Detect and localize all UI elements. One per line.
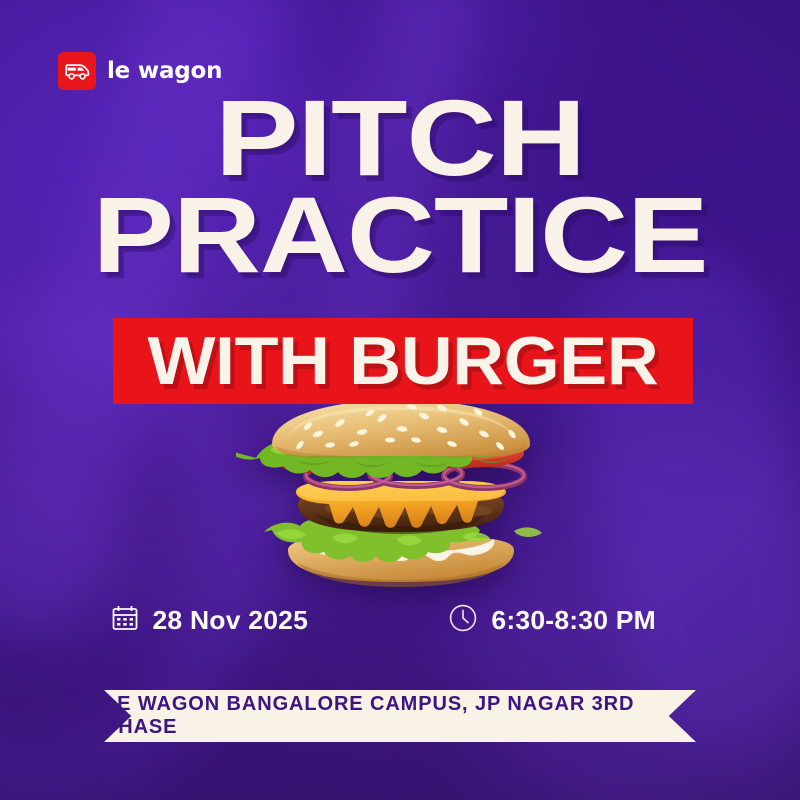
subtitle-text: WITH BURGER (148, 327, 659, 395)
subtitle-banner: WITH BURGER (113, 318, 693, 404)
van-icon (58, 52, 96, 90)
headline-block: PITCH PRACTICE (0, 92, 800, 282)
event-date-text: 28 Nov 2025 (152, 605, 308, 636)
burger-photo (236, 400, 566, 595)
venue-ribbon: LE WAGON BANGALORE CAMPUS, JP NAGAR 3RD … (104, 690, 696, 742)
venue-text: LE WAGON BANGALORE CAMPUS, JP NAGAR 3RD … (104, 690, 696, 742)
event-meta-row: 28 Nov 2025 6:30-8:30 PM (0, 596, 800, 644)
event-date: 28 Nov 2025 (110, 603, 307, 638)
brand-wordmark: le wagon (107, 58, 222, 84)
event-time: 6:30-8:30 PM (447, 602, 654, 639)
headline-line-1: PITCH (0, 92, 800, 185)
clock-icon (447, 602, 479, 639)
brand-logo: le wagon (58, 52, 222, 90)
calendar-icon (110, 603, 140, 638)
headline-line-2: PRACTICE (0, 189, 800, 282)
event-poster: le wagon PITCH PRACTICE WITH BURGER (0, 0, 800, 800)
event-time-text: 6:30-8:30 PM (491, 605, 656, 636)
